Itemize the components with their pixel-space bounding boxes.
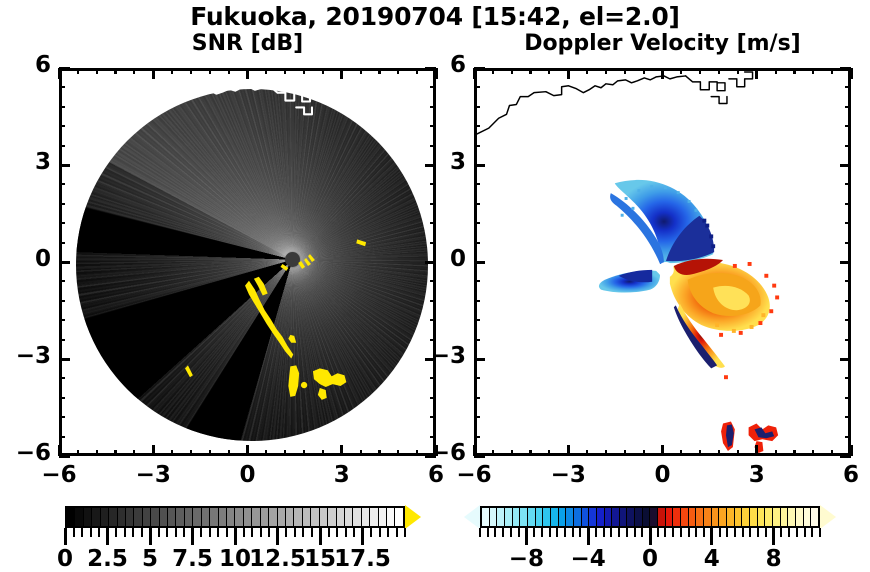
snr-colorbar-cell xyxy=(370,508,378,526)
snr-colorbar-minortick xyxy=(149,528,151,537)
doppler-colorbar-minortick xyxy=(494,528,496,537)
doppler-colorbar-majortick xyxy=(525,528,528,545)
snr-colorbar-minortick xyxy=(387,528,389,537)
xticklabel-doppler-4: 6 xyxy=(816,462,870,488)
yticklabel-snr-0: 6 xyxy=(5,52,51,78)
snr-colorbar-minortick xyxy=(294,528,296,537)
snr-colorbar-label-5: 12.5 xyxy=(238,546,318,572)
snr-colorbar-cell xyxy=(261,508,269,526)
xticklabel-doppler-0: −6 xyxy=(439,462,509,488)
snr-colorbar-minortick xyxy=(90,528,92,537)
doppler-colorbar-minortick xyxy=(587,528,589,537)
doppler-colorbar-minortick xyxy=(510,528,512,537)
doppler-colorbar-cell xyxy=(673,508,681,526)
xticklabel-snr-3: 3 xyxy=(307,462,377,488)
snr-colorbar-minortick xyxy=(302,528,304,537)
snr-colorbar-cell xyxy=(353,508,361,526)
snr-colorbar-label-1: 2.5 xyxy=(68,546,148,572)
snr-colorbar-cell xyxy=(269,508,277,526)
snr-colorbar-minortick xyxy=(166,528,168,537)
doppler-colorbar-cell xyxy=(559,508,567,526)
snr-colorbar-cell xyxy=(294,508,302,526)
snr-colorbar-cell xyxy=(134,508,142,526)
snr-colorbar-minortick xyxy=(277,528,279,537)
snr-colorbar-minortick xyxy=(328,528,330,537)
snr-colorbar-cell xyxy=(235,508,243,526)
doppler-colorbar-majortick xyxy=(710,528,713,545)
snr-colorbar-majortick xyxy=(64,528,67,545)
doppler-colorbar-cell xyxy=(727,508,735,526)
snr-colorbar-cell xyxy=(176,508,184,526)
snr-colorbar-minortick xyxy=(379,528,381,537)
snr-colorbar-minortick xyxy=(73,528,75,537)
doppler-colorbar-minortick xyxy=(742,528,744,537)
snr-colorbar-cell xyxy=(219,508,227,526)
doppler-colorbar-minortick xyxy=(749,528,751,537)
doppler-colorbar-minortick xyxy=(479,528,481,537)
snr-colorbar-minortick xyxy=(396,528,398,537)
doppler-colorbar-majortick xyxy=(649,528,652,545)
snr-colorbar-minortick xyxy=(268,528,270,537)
snr-colorbar-minortick xyxy=(319,528,321,537)
doppler-colorbar-cell xyxy=(681,508,689,526)
doppler-colorbar-minortick xyxy=(579,528,581,537)
doppler-colorbar-over-arrow xyxy=(820,505,836,529)
doppler-colorbar-cell xyxy=(742,508,750,526)
doppler-colorbar-cell xyxy=(551,508,559,526)
xticklabel-doppler-3: 3 xyxy=(722,462,792,488)
snr-colorbar-cell xyxy=(345,508,353,526)
snr-plot-axes[interactable] xyxy=(59,68,436,456)
snr-colorbar-cell xyxy=(244,508,252,526)
doppler-colorbar-cell xyxy=(773,508,781,526)
snr-colorbar-minortick xyxy=(285,528,287,537)
snr-colorbar-minortick xyxy=(81,528,83,537)
snr-colorbar-majortick xyxy=(191,528,194,545)
doppler-colorbar-cell xyxy=(781,508,789,526)
snr-plot-area xyxy=(62,71,433,453)
doppler-colorbar-cell xyxy=(566,508,574,526)
doppler-colorbar-minortick xyxy=(734,528,736,537)
snr-colorbar-over-arrow xyxy=(405,505,421,529)
snr-colorbar-minortick xyxy=(311,528,313,537)
doppler-colorbar-minortick xyxy=(695,528,697,537)
doppler-colorbar-minortick xyxy=(572,528,574,537)
snr-colorbar-cell xyxy=(362,508,370,526)
snr-colorbar-cell xyxy=(168,508,176,526)
doppler-colorbar-minortick xyxy=(525,528,527,537)
doppler-island-echo-1 xyxy=(721,421,735,451)
doppler-velocity-field xyxy=(477,71,848,453)
doppler-colorbar-under-arrow xyxy=(464,505,480,529)
doppler-colorbar-cell xyxy=(528,508,536,526)
snr-colorbar-cell xyxy=(395,508,402,526)
doppler-colorbar-minortick xyxy=(788,528,790,537)
snr-colorbar-cell xyxy=(67,508,75,526)
snr-colorbar-minortick xyxy=(251,528,253,537)
doppler-colorbar-cell xyxy=(574,508,582,526)
doppler-colorbar-minortick xyxy=(804,528,806,537)
doppler-colorbar-minortick xyxy=(719,528,721,537)
snr-colorbar-majortick xyxy=(234,528,237,545)
snr-colorbar-cell xyxy=(278,508,286,526)
snr-colorbar-minortick xyxy=(107,528,109,537)
doppler-colorbar-label-0: −8 xyxy=(486,546,566,572)
snr-colorbar-cells xyxy=(67,508,403,526)
snr-colorbar-cell xyxy=(92,508,100,526)
doppler-colorbar-cell xyxy=(696,508,704,526)
doppler-colorbar-minortick xyxy=(595,528,597,537)
doppler-colorbar-cell xyxy=(765,508,773,526)
doppler-colorbar-cell xyxy=(582,508,590,526)
doppler-colorbar-cell xyxy=(635,508,643,526)
snr-colorbar-cell xyxy=(210,508,218,526)
doppler-colorbar-minortick xyxy=(773,528,775,537)
doppler-colorbar-cell xyxy=(689,508,697,526)
doppler-colorbar-cell xyxy=(620,508,628,526)
figure-suptitle: Fukuoka, 20190704 [15:42, el=2.0] xyxy=(0,2,870,31)
doppler-colorbar-minortick xyxy=(502,528,504,537)
yticklabel-snr-1: 3 xyxy=(5,149,51,175)
doppler-colorbar-minortick xyxy=(487,528,489,537)
doppler-colorbar-minortick xyxy=(726,528,728,537)
snr-colorbar-majortick xyxy=(276,528,279,545)
doppler-colorbar-cell xyxy=(643,508,651,526)
snr-colorbar-cell xyxy=(337,508,345,526)
panel-title-snr: SNR [dB] xyxy=(59,31,436,56)
doppler-plot-axes[interactable] xyxy=(474,68,851,456)
snr-colorbar-minortick xyxy=(64,528,66,537)
snr-colorbar-majortick xyxy=(149,528,152,545)
yticklabel-snr-3: −3 xyxy=(5,343,51,369)
doppler-colorbar-minortick xyxy=(796,528,798,537)
snr-colorbar-cell xyxy=(160,508,168,526)
snr-colorbar-cell xyxy=(303,508,311,526)
snr-colorbar-cell xyxy=(101,508,109,526)
doppler-colorbar-majortick xyxy=(772,528,775,545)
doppler-colorbar-cell xyxy=(750,508,758,526)
doppler-colorbar-cell xyxy=(758,508,766,526)
doppler-colorbar-cell xyxy=(788,508,796,526)
snr-colorbar-majortick xyxy=(361,528,364,545)
doppler-colorbar-minortick xyxy=(533,528,535,537)
snr-colorbar-minortick xyxy=(353,528,355,537)
xticklabel-snr-2: 0 xyxy=(213,462,283,488)
snr-colorbar-minortick xyxy=(183,528,185,537)
snr-colorbar-majortick xyxy=(106,528,109,545)
doppler-colorbar-minortick xyxy=(703,528,705,537)
snr-colorbar-minortick xyxy=(115,528,117,537)
doppler-colorbar-minortick xyxy=(641,528,643,537)
doppler-colorbar-minortick xyxy=(626,528,628,537)
doppler-colorbar-minortick xyxy=(618,528,620,537)
snr-colorbar-cell xyxy=(193,508,201,526)
snr-colorbar-cell xyxy=(109,508,117,526)
snr-colorbar-minortick xyxy=(404,528,406,537)
doppler-island-echo-2 xyxy=(749,423,779,453)
doppler-colorbar-cells xyxy=(482,508,818,526)
doppler-colorbar-cell xyxy=(627,508,635,526)
doppler-colorbar-minortick xyxy=(780,528,782,537)
doppler-colorbar-cell xyxy=(811,508,818,526)
doppler-colorbar-cell xyxy=(804,508,812,526)
doppler-colorbar-minortick xyxy=(688,528,690,537)
doppler-colorbar-minortick xyxy=(610,528,612,537)
doppler-colorbar[interactable] xyxy=(480,506,820,528)
snr-colorbar-minortick xyxy=(132,528,134,537)
doppler-colorbar-label-3: 4 xyxy=(672,546,752,572)
doppler-colorbar-minortick xyxy=(664,528,666,537)
doppler-colorbar-label-1: −4 xyxy=(548,546,628,572)
snr-colorbar-minortick xyxy=(226,528,228,537)
snr-colorbar-cell xyxy=(252,508,260,526)
doppler-colorbar-cell xyxy=(505,508,513,526)
doppler-colorbar-cell xyxy=(612,508,620,526)
doppler-colorbar-cell xyxy=(735,508,743,526)
snr-colorbar-cell xyxy=(202,508,210,526)
doppler-colorbar-minortick xyxy=(711,528,713,537)
snr-colorbar-cell xyxy=(143,508,151,526)
doppler-colorbar-cell xyxy=(658,508,666,526)
snr-colorbar-minortick xyxy=(362,528,364,537)
snr-colorbar-minortick xyxy=(370,528,372,537)
snr-colorbar-label-7: 17.5 xyxy=(323,546,403,572)
doppler-colorbar-minortick xyxy=(564,528,566,537)
snr-colorbar-label-3: 7.5 xyxy=(153,546,233,572)
doppler-colorbar-cell xyxy=(666,508,674,526)
doppler-colorbar-minortick xyxy=(556,528,558,537)
snr-colorbar-label-0: 0 xyxy=(25,546,105,572)
doppler-colorbar-cell xyxy=(497,508,505,526)
snr-colorbar-minortick xyxy=(141,528,143,537)
doppler-colorbar-minortick xyxy=(819,528,821,537)
yticklabel-snr-2: 0 xyxy=(5,246,51,272)
xticklabel-snr-0: −6 xyxy=(24,462,94,488)
doppler-colorbar-minortick xyxy=(811,528,813,537)
doppler-colorbar-cell xyxy=(796,508,804,526)
snr-colorbar-label-4: 10 xyxy=(195,546,275,572)
snr-colorbar-cell xyxy=(227,508,235,526)
snr-colorbar-cell xyxy=(328,508,336,526)
snr-colorbar-cell xyxy=(185,508,193,526)
snr-colorbar-cell xyxy=(311,508,319,526)
doppler-colorbar-cell xyxy=(650,508,658,526)
snr-colorbar-label-6: 15 xyxy=(280,546,360,572)
snr-colorbar-cell xyxy=(75,508,83,526)
xticklabel-snr-1: −3 xyxy=(118,462,188,488)
xticklabel-doppler-1: −3 xyxy=(533,462,603,488)
high-snr-clutter-snr xyxy=(62,71,433,453)
doppler-positive-lobe xyxy=(670,259,779,453)
snr-colorbar-minortick xyxy=(98,528,100,537)
doppler-colorbar-cell xyxy=(520,508,528,526)
snr-colorbar[interactable] xyxy=(65,506,405,528)
xticklabel-doppler-2: 0 xyxy=(628,462,698,488)
snr-colorbar-cell xyxy=(320,508,328,526)
doppler-plot-area xyxy=(477,71,848,453)
snr-colorbar-cell xyxy=(387,508,395,526)
doppler-center-hole xyxy=(658,262,674,278)
doppler-colorbar-minortick xyxy=(672,528,674,537)
doppler-colorbar-cell xyxy=(712,508,720,526)
doppler-colorbar-cell xyxy=(719,508,727,526)
doppler-colorbar-minortick xyxy=(518,528,520,537)
yticklabel-snr-4: −6 xyxy=(5,440,51,466)
snr-colorbar-minortick xyxy=(175,528,177,537)
doppler-colorbar-cell xyxy=(536,508,544,526)
doppler-colorbar-cell xyxy=(490,508,498,526)
doppler-colorbar-cell xyxy=(589,508,597,526)
snr-colorbar-minortick xyxy=(209,528,211,537)
snr-colorbar-cell xyxy=(126,508,134,526)
snr-colorbar-minortick xyxy=(192,528,194,537)
doppler-colorbar-minortick xyxy=(657,528,659,537)
snr-colorbar-cell xyxy=(118,508,126,526)
snr-colorbar-minortick xyxy=(217,528,219,537)
snr-colorbar-minortick xyxy=(200,528,202,537)
xticklabel-snr-4: 6 xyxy=(401,462,471,488)
snr-colorbar-minortick xyxy=(124,528,126,537)
doppler-colorbar-minortick xyxy=(634,528,636,537)
snr-colorbar-minortick xyxy=(158,528,160,537)
snr-colorbar-minortick xyxy=(234,528,236,537)
doppler-colorbar-label-4: 8 xyxy=(734,546,814,572)
panel-title-doppler: Doppler Velocity [m/s] xyxy=(474,31,851,56)
doppler-colorbar-minortick xyxy=(765,528,767,537)
doppler-colorbar-cell xyxy=(543,508,551,526)
snr-colorbar-minortick xyxy=(243,528,245,537)
snr-colorbar-cell xyxy=(151,508,159,526)
doppler-colorbar-majortick xyxy=(587,528,590,545)
snr-colorbar-cell xyxy=(84,508,92,526)
doppler-colorbar-cell xyxy=(605,508,613,526)
snr-colorbar-majortick xyxy=(319,528,322,545)
snr-colorbar-minortick xyxy=(336,528,338,537)
doppler-colorbar-cell xyxy=(513,508,521,526)
doppler-colorbar-label-2: 0 xyxy=(610,546,690,572)
snr-colorbar-minortick xyxy=(260,528,262,537)
snr-colorbar-cell xyxy=(379,508,387,526)
snr-colorbar-minortick xyxy=(345,528,347,537)
doppler-colorbar-cell xyxy=(704,508,712,526)
doppler-colorbar-minortick xyxy=(549,528,551,537)
doppler-colorbar-minortick xyxy=(680,528,682,537)
doppler-colorbar-minortick xyxy=(603,528,605,537)
doppler-colorbar-minortick xyxy=(649,528,651,537)
doppler-colorbar-cell xyxy=(597,508,605,526)
snr-colorbar-cell xyxy=(286,508,294,526)
doppler-colorbar-minortick xyxy=(757,528,759,537)
snr-colorbar-label-2: 5 xyxy=(110,546,190,572)
doppler-colorbar-minortick xyxy=(541,528,543,537)
doppler-colorbar-cell xyxy=(482,508,490,526)
